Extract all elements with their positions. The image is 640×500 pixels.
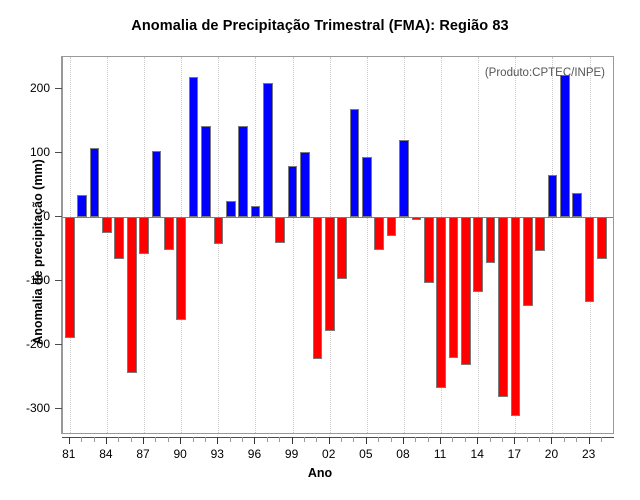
x-tick-mark [131,437,132,442]
bar-96 [251,206,261,218]
bar-04 [350,109,360,217]
bar-08 [399,140,409,217]
y-tick-mark [55,344,62,345]
y-tick-label: -300 [26,401,50,415]
bar-86 [127,217,137,373]
x-tick-mark [69,437,70,444]
x-tick-label: 20 [545,447,558,461]
x-tick-mark [94,437,95,442]
x-tick-label: 05 [359,447,372,461]
plot-area: (Produto:CPTEC/INPE) [62,56,614,434]
bar-85 [114,217,124,259]
bar-05 [362,157,372,217]
bar-07 [387,217,397,236]
bar-98 [275,217,285,243]
x-tick-mark [267,437,268,442]
x-tick-label: 93 [211,447,224,461]
y-tick-label: -200 [26,337,50,351]
x-tick-mark [465,437,466,442]
bar-09 [412,217,422,220]
x-tick-mark [366,437,367,444]
x-tick-label: 90 [174,447,187,461]
y-tick-label: 0 [43,209,50,223]
x-tick-label: 87 [136,447,149,461]
y-axis-ticks: 2001000-100-200-300 [0,0,62,500]
y-tick-mark [55,216,62,217]
x-tick-mark [254,437,255,444]
bar-84 [102,217,112,233]
x-tick-mark [601,437,602,442]
x-tick-mark [551,437,552,444]
x-tick-mark [193,437,194,442]
x-tick-mark [415,437,416,442]
x-tick-mark [490,437,491,442]
x-tick-mark [279,437,280,442]
bar-88 [152,151,162,218]
bar-14 [473,217,483,292]
y-tick-mark [55,408,62,409]
bar-23 [585,217,595,302]
x-tick-mark [205,437,206,442]
y-tick-label: -100 [26,273,50,287]
x-tick-mark [304,437,305,442]
x-tick-label: 02 [322,447,335,461]
x-tick-mark [217,437,218,444]
bar-00 [300,152,310,217]
x-tick-mark [452,437,453,442]
x-tick-mark [576,437,577,442]
x-tick-label: 14 [471,447,484,461]
bar-19 [535,217,545,251]
x-tick-mark [440,437,441,444]
bar-87 [139,217,149,254]
bar-12 [449,217,459,358]
bar-99 [288,166,298,217]
x-axis-title: Ano [0,466,640,480]
bar-18 [523,217,533,306]
x-tick-mark [118,437,119,442]
x-tick-mark [292,437,293,444]
x-tick-mark [168,437,169,442]
x-tick-label: 84 [99,447,112,461]
x-tick-mark [378,437,379,442]
x-tick-label: 17 [508,447,521,461]
bar-22 [572,193,582,217]
x-tick-mark [106,437,107,444]
bar-91 [189,77,199,217]
bar-10 [424,217,434,283]
y-tick-label: 200 [30,81,50,95]
x-tick-mark [502,437,503,442]
x-tick-mark [180,437,181,444]
x-tick-mark [527,437,528,442]
x-tick-label: 99 [285,447,298,461]
y-tick-mark [55,152,62,153]
x-tick-mark [329,437,330,444]
bar-20 [548,175,558,217]
x-tick-mark [514,437,515,444]
x-tick-mark [143,437,144,444]
chart-title: Anomalia de Precipitação Trimestral (FMA… [0,18,640,34]
bar-92 [201,126,211,218]
x-tick-mark [155,437,156,442]
bar-94 [226,201,236,218]
bar-11 [436,217,446,387]
bar-93 [214,217,224,244]
bar-89 [164,217,174,250]
bar-17 [511,217,521,416]
bar-97 [263,83,273,217]
x-tick-mark [403,437,404,444]
x-tick-mark [391,437,392,442]
bar-02 [325,217,335,331]
bar-16 [498,217,508,396]
y-tick-label: 100 [30,145,50,159]
y-tick-mark [55,280,62,281]
bar-01 [313,217,323,359]
bar-series [63,57,613,433]
chart-root: Anomalia de Precipitação Trimestral (FMA… [0,0,640,500]
bar-03 [337,217,347,279]
x-axis-line [62,437,614,438]
bar-95 [238,126,248,218]
x-tick-mark [242,437,243,442]
bar-21 [560,75,570,217]
bar-24 [597,217,607,259]
x-tick-mark [477,437,478,444]
x-tick-mark [564,437,565,442]
bar-06 [374,217,384,250]
bar-90 [176,217,186,320]
x-tick-mark [316,437,317,442]
x-tick-label: 23 [582,447,595,461]
bar-82 [77,195,87,217]
x-tick-mark [353,437,354,442]
x-tick-mark [81,437,82,442]
x-tick-mark [230,437,231,442]
x-tick-label: 81 [62,447,75,461]
x-tick-label: 96 [248,447,261,461]
x-tick-mark [589,437,590,444]
x-tick-mark [428,437,429,442]
x-tick-mark [341,437,342,442]
x-tick-label: 08 [396,447,409,461]
bar-83 [90,148,100,217]
x-tick-label: 11 [434,447,446,461]
bar-15 [486,217,496,263]
x-tick-mark [539,437,540,442]
bar-13 [461,217,471,365]
produto-annotation: (Produto:CPTEC/INPE) [485,67,605,79]
y-tick-mark [55,88,62,89]
bar-81 [65,217,75,337]
